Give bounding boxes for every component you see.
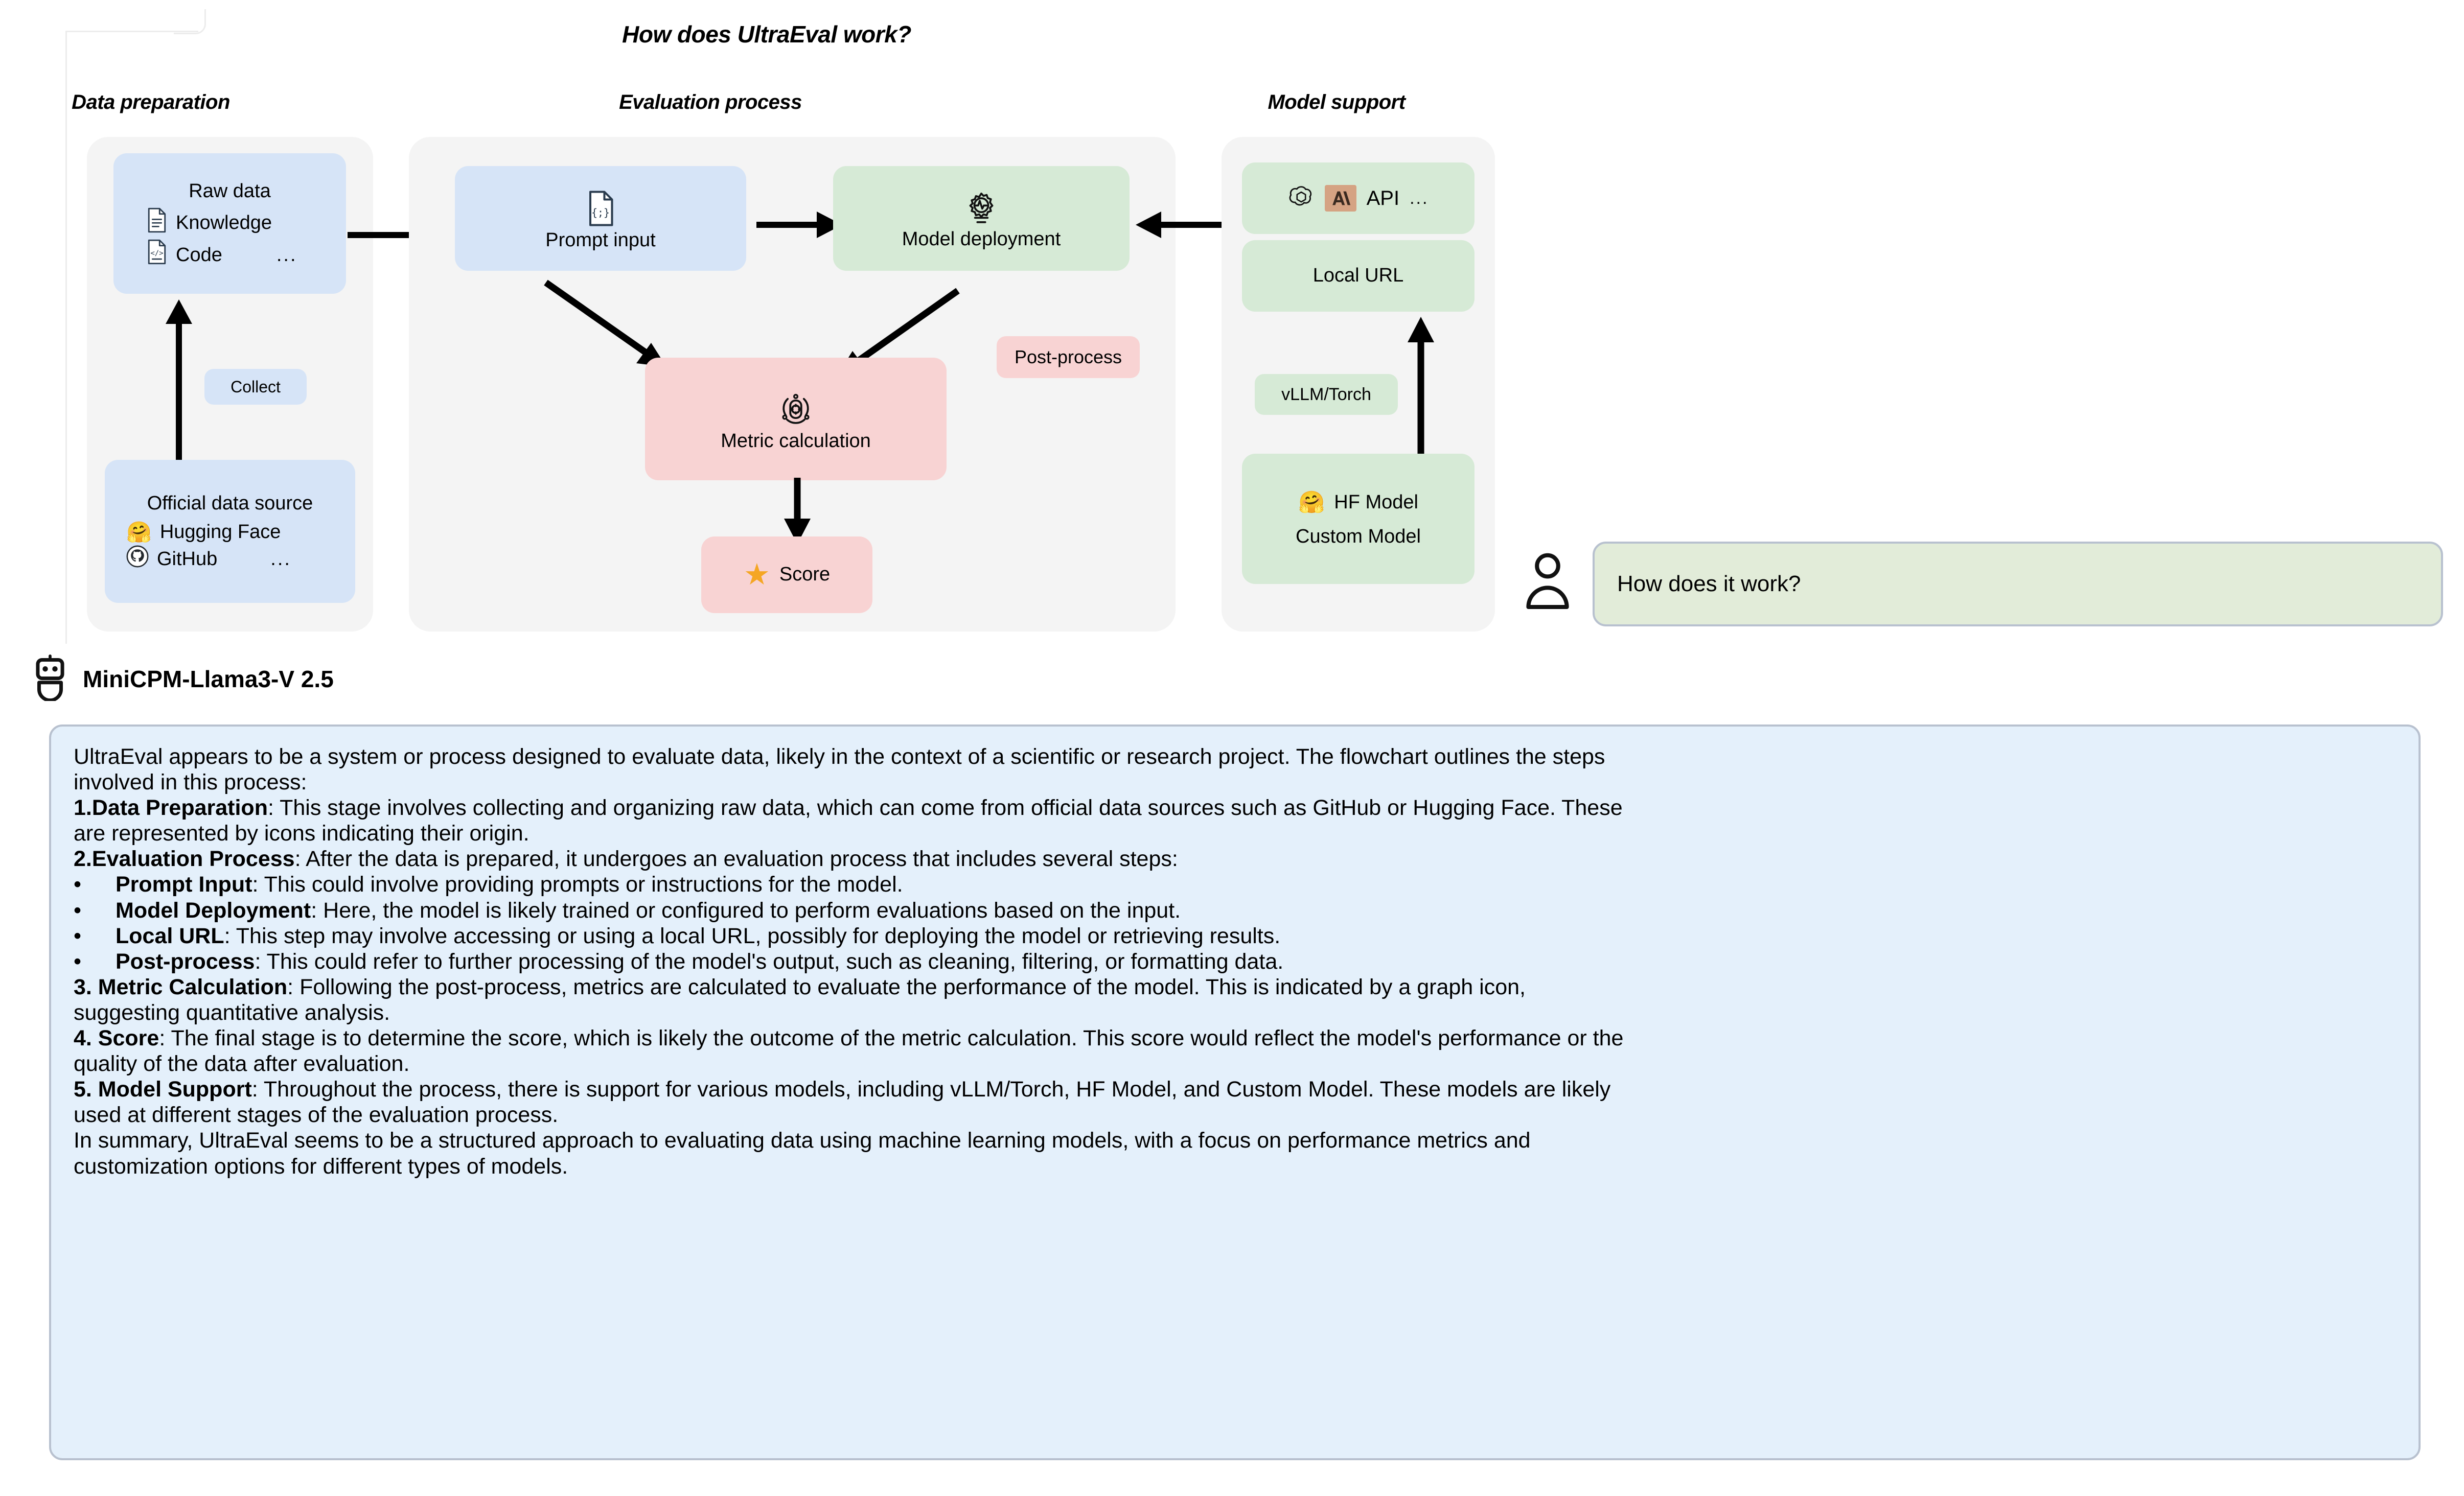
assistant-answer-text: UltraEval appears to be a system or proc… — [74, 744, 2396, 1179]
assistant-answer-box: UltraEval appears to be a system or proc… — [49, 724, 2421, 1460]
api-label: API — [1367, 187, 1399, 210]
hugging-face-icon: 🤗 — [126, 520, 152, 545]
answer-line: used at different stages of the evaluati… — [74, 1102, 2396, 1128]
answer-line: In summary, UltraEval seems to be a stru… — [74, 1128, 2396, 1153]
post-process-chip-label: Post-process — [1015, 346, 1122, 368]
official-source-item-label: Hugging Face — [160, 520, 281, 545]
official-data-source-node[interactable]: Official data source 🤗 Hugging Face GitH… — [105, 460, 355, 603]
github-icon — [126, 545, 149, 574]
answer-line-text: Model Deployment: Here, the model is lik… — [116, 898, 1181, 923]
score-label: Score — [779, 564, 830, 586]
json-file-icon: {;} — [455, 189, 746, 228]
collect-chip[interactable]: Collect — [204, 369, 307, 405]
raw-data-more: ... — [277, 243, 297, 268]
assistant-header: MiniCPM-Llama3-V 2.5 — [31, 654, 334, 704]
official-source-item-github[interactable]: GitHub ... — [126, 545, 355, 574]
anthropic-icon — [1325, 185, 1356, 212]
bullet-icon: • — [74, 923, 92, 949]
metric-calculation-node[interactable]: Metric calculation — [645, 358, 947, 480]
hugging-face-icon: 🤗 — [1298, 490, 1325, 515]
answer-bullet-line: •Local URL: This step may involve access… — [74, 923, 2396, 949]
answer-line-text: Post-process: This could refer to furthe… — [116, 949, 1283, 974]
figure-frame-line-vertical — [65, 31, 67, 644]
model-deployment-label: Model deployment — [833, 229, 1130, 250]
local-url-label: Local URL — [1242, 265, 1475, 287]
raw-data-item-label: Knowledge — [176, 211, 272, 236]
gear-pulse-icon — [833, 190, 1130, 228]
answer-bullet-line: •Post-process: This could refer to furth… — [74, 949, 2396, 974]
hf-custom-model-node[interactable]: 🤗 HF Model Custom Model — [1242, 454, 1475, 584]
hf-model-label: HF Model — [1334, 492, 1418, 513]
robot-icon — [31, 654, 70, 704]
score-node[interactable]: ★ Score — [701, 536, 872, 613]
page-frame: How does UltraEval work? Data preparatio… — [0, 0, 2464, 1496]
official-source-more: ... — [270, 547, 291, 572]
section-title-model-support: Model support — [1227, 91, 1446, 114]
bullet-icon: • — [74, 949, 92, 974]
official-source-item-label: GitHub — [157, 547, 217, 572]
metric-calculation-label: Metric calculation — [645, 431, 947, 452]
answer-line: 3. Metric Calculation: Following the pos… — [74, 974, 2396, 1000]
official-source-item-hf[interactable]: 🤗 Hugging Face — [126, 520, 355, 545]
collect-chip-label: Collect — [231, 378, 281, 396]
user-message-bubble: How does it work? — [1593, 542, 2443, 626]
section-title-data-preparation: Data preparation — [66, 91, 235, 114]
official-data-source-title: Official data source — [105, 493, 355, 515]
api-more: ... — [1410, 189, 1429, 208]
section-title-evaluation-process: Evaluation process — [583, 91, 838, 114]
answer-line: customization options for different type… — [74, 1154, 2396, 1179]
code-file-icon: </> — [146, 239, 168, 271]
answer-line: suggesting quantitative analysis. — [74, 1000, 2396, 1025]
raw-data-item-code[interactable]: </> Code ... — [146, 239, 346, 271]
bullet-icon: • — [74, 898, 92, 923]
answer-line: are represented by icons indicating thei… — [74, 821, 2396, 846]
answer-line: 1.Data Preparation: This stage involves … — [74, 795, 2396, 821]
openai-icon — [1288, 184, 1315, 213]
star-icon: ★ — [744, 560, 770, 590]
vllm-torch-chip[interactable]: vLLM/Torch — [1255, 374, 1398, 415]
assistant-name-label: MiniCPM-Llama3-V 2.5 — [83, 665, 334, 693]
svg-text:</>: </> — [150, 249, 163, 258]
post-process-chip[interactable]: Post-process — [997, 336, 1140, 378]
custom-model-label: Custom Model — [1242, 526, 1475, 548]
answer-line: quality of the data after evaluation. — [74, 1051, 2396, 1077]
answer-line: 4. Score: The final stage is to determin… — [74, 1025, 2396, 1051]
answer-line: 5. Model Support: Throughout the process… — [74, 1077, 2396, 1102]
user-message-row: How does it work? — [1523, 542, 2443, 654]
raw-data-item-label: Code — [176, 243, 222, 268]
prompt-input-node[interactable]: {;} Prompt input — [455, 166, 746, 271]
answer-line-text: Local URL: This step may involve accessi… — [116, 923, 1280, 949]
document-icon — [146, 207, 168, 240]
raw-data-item-knowledge[interactable]: Knowledge — [146, 207, 346, 240]
svg-text:{;}: {;} — [591, 206, 610, 219]
model-deployment-node[interactable]: Model deployment — [833, 166, 1130, 271]
answer-bullet-line: •Prompt Input: This could involve provid… — [74, 872, 2396, 897]
hf-model-row[interactable]: 🤗 HF Model — [1242, 490, 1475, 515]
raw-data-node[interactable]: Raw data Knowledge </> — [113, 153, 346, 294]
prompt-input-label: Prompt input — [455, 230, 746, 251]
bullet-icon: • — [74, 872, 92, 897]
answer-line: UltraEval appears to be a system or proc… — [74, 744, 2396, 769]
user-message-text: How does it work? — [1617, 571, 1801, 597]
arrow-collect-up — [158, 296, 199, 470]
answer-line: involved in this process: — [74, 769, 2396, 795]
answer-bullet-line: •Model Deployment: Here, the model is li… — [74, 898, 2396, 923]
vllm-torch-label: vLLM/Torch — [1281, 385, 1371, 405]
user-avatar-icon — [1523, 542, 1572, 615]
answer-line: 2.Evaluation Process: After the data is … — [74, 846, 2396, 872]
arrow-models-up — [1400, 312, 1441, 460]
api-node[interactable]: API ... — [1242, 162, 1475, 234]
local-url-node[interactable]: Local URL — [1242, 240, 1475, 312]
raw-data-title: Raw data — [113, 181, 346, 202]
answer-line-text: Prompt Input: This could involve providi… — [116, 872, 903, 897]
metric-orbit-icon — [645, 390, 947, 429]
figure-title: How does UltraEval work? — [0, 20, 1533, 48]
ultraeval-flow-diagram: How does UltraEval work? Data preparatio… — [0, 0, 1533, 644]
